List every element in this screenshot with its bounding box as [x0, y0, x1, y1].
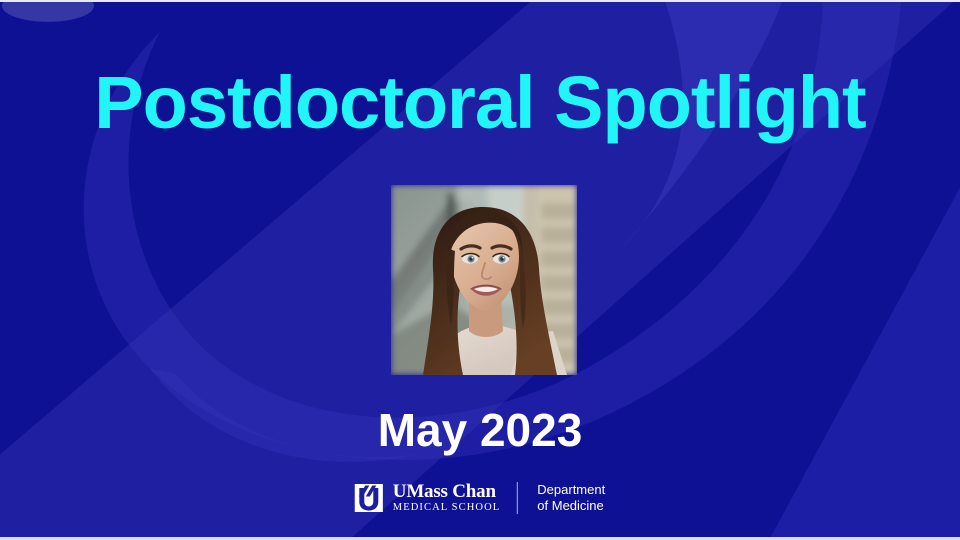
- logo-school-name: MEDICAL SCHOOL: [393, 503, 500, 514]
- slide-date: May 2023: [0, 407, 960, 453]
- portrait-photo: [391, 185, 577, 375]
- logo-university-name: UMass Chan: [393, 482, 500, 501]
- page-title: Postdoctoral Spotlight: [0, 66, 960, 140]
- logo-divider: [517, 482, 518, 514]
- logo-department-line-2: of Medicine: [537, 498, 605, 514]
- logo-department-name: Department of Medicine: [537, 482, 605, 514]
- umass-chan-u-monogram-icon: [355, 484, 383, 512]
- presentation-slide: Postdoctoral Spotlight: [0, 0, 960, 540]
- umass-chan-wordmark: UMass Chan MEDICAL SCHOOL: [393, 482, 500, 514]
- logo-department-line-1: Department: [537, 482, 605, 498]
- umass-chan-logo-lockup: UMass Chan MEDICAL SCHOOL Department of …: [355, 480, 605, 516]
